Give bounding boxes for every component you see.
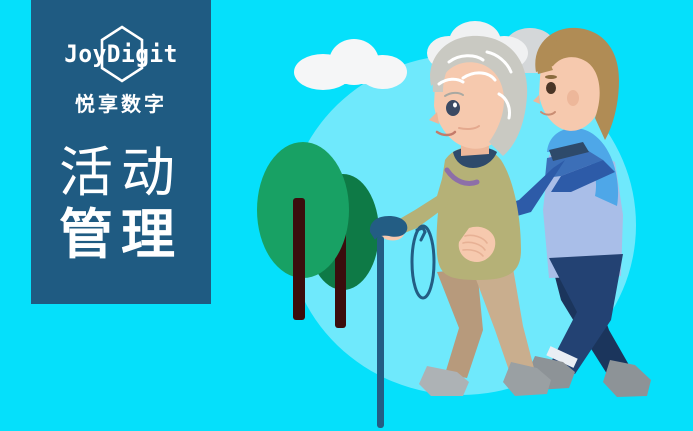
young-man-eye (546, 82, 556, 94)
illustration-elderly-care (231, 0, 693, 431)
poster-canvas: JoyDigit 悦享数字 活动 管理 (0, 0, 693, 431)
cane-shaft (377, 236, 384, 428)
page-title-line-1: 活动 (59, 143, 183, 203)
page-title-line-2: 管理 (59, 205, 183, 265)
logo-block: JoyDigit (46, 26, 196, 82)
logo-wordmark: JoyDigit (50, 40, 193, 68)
young-man-eyebrow (545, 75, 557, 79)
woman-eye-highlight (453, 103, 457, 108)
company-name-cn: 悦享数字 (75, 88, 167, 117)
woman-eye (446, 100, 460, 116)
young-man-ear (567, 90, 579, 106)
brand-panel: JoyDigit 悦享数字 活动 管理 (31, 0, 211, 304)
page-title: 活动 管理 (59, 143, 183, 265)
